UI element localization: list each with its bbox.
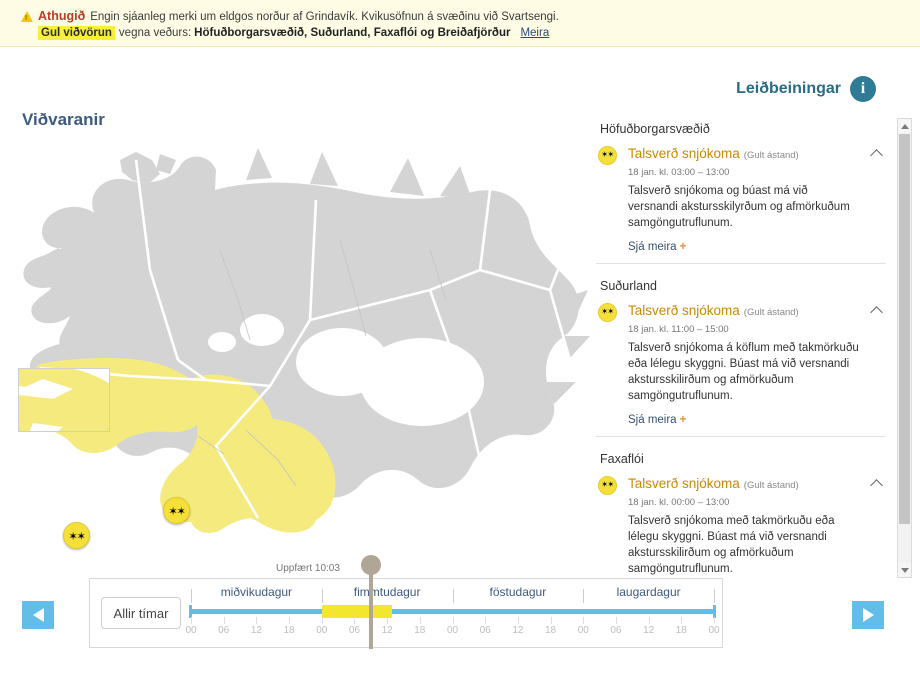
collapse-chevron-up-icon[interactable] (872, 148, 882, 158)
snow-warning-icon: ✶✶ (598, 303, 617, 322)
warning-state: (Gult ástand) (744, 480, 799, 491)
timeline-hour-label: 12 (251, 625, 262, 636)
timeline-day-separator (322, 589, 323, 603)
timeline-day-separator (191, 589, 192, 603)
region-block: Suðurland ✶✶ Talsverð snjókoma(Gult ásta… (596, 263, 886, 436)
timeline-rail[interactable] (191, 609, 714, 614)
timeline-hour-label: 06 (349, 625, 360, 636)
collapse-chevron-up-icon[interactable] (872, 478, 882, 488)
map-marker-faxafloi[interactable]: ✶✶ (163, 497, 190, 524)
region-name: Höfuðborgarsvæðið (600, 122, 886, 136)
instructions-label: Leiðbeiningar (736, 80, 841, 98)
alert-weather-line: Gul viðvörunvegna veðurs:Höfuðborgarsvæð… (38, 26, 549, 40)
region-block: Höfuðborgarsvæðið ✶✶ Talsverð snjókoma(G… (596, 122, 886, 263)
more-link[interactable]: Meira (520, 27, 549, 39)
timeline-hour-labels: 0006121800061218000612180006121800 (191, 625, 714, 639)
affected-regions-text: Höfuðborgarsvæðið, Suðurland, Faxaflói o… (194, 27, 510, 39)
timeline-hour-tick (289, 617, 290, 624)
warning-state: (Gult ástand) (744, 150, 799, 161)
warning-state: (Gult ástand) (744, 307, 799, 318)
snow-marker-glyph: ✶✶ (68, 531, 84, 541)
timeline-day-label: föstudagur (490, 585, 547, 599)
timeline-hour-tick (224, 617, 225, 624)
warning-description: Talsverð snjókoma og búast má við versna… (628, 183, 860, 231)
warning-time: 18 jan. kl. 11:00 – 15:00 (628, 324, 860, 335)
see-more-link[interactable]: Sjá meira+ (628, 414, 860, 426)
timeline-hour-tick (616, 617, 617, 624)
reason-text: vegna veðurs: (119, 27, 191, 39)
timeline-day-label: fimmtudagur (354, 585, 421, 599)
warning-time: 18 jan. kl. 03:00 – 13:00 (628, 167, 860, 178)
scrollbar-thumb[interactable] (899, 134, 910, 524)
info-icon[interactable]: i (850, 76, 876, 102)
timeline-hour-label: 12 (643, 625, 654, 636)
timeline-control[interactable]: Allir tímar miðvikudagurfimmtudagurföstu… (89, 578, 723, 648)
timeline-hour-tick (453, 617, 454, 624)
timeline-hour-tick (518, 617, 519, 624)
timeline-handle[interactable] (361, 555, 381, 575)
timeline-hour-label: 00 (185, 625, 196, 636)
scroll-up-arrow-icon[interactable] (898, 119, 911, 133)
timeline-hour-tick (583, 617, 584, 624)
region-block: Faxaflói ✶✶ Talsverð snjókoma(Gult ástan… (596, 436, 886, 578)
timeline-day-label: laugardagur (617, 585, 681, 599)
map-inset-capital-region[interactable] (18, 368, 110, 432)
triangle-right-icon (863, 608, 874, 622)
warning-description: Talsverð snjókoma með takmörkuðu eða lél… (628, 513, 860, 577)
map-inset-graphic (18, 368, 110, 432)
timeline-hour-label: 00 (316, 625, 327, 636)
page-title: Viðvaranir (22, 110, 105, 130)
timeline-day-labels: miðvikudagurfimmtudagurföstudagurlaugard… (191, 585, 714, 601)
instructions-link[interactable]: Leiðbeiningar i (736, 76, 876, 102)
warning-description: Talsverð snjókoma á köflum með takmörkuð… (628, 340, 860, 404)
timeline-hour-label: 00 (708, 625, 719, 636)
see-more-link[interactable]: Sjá meira+ (628, 241, 860, 253)
timeline-hour-tick (420, 617, 421, 624)
triangle-left-icon (33, 608, 44, 622)
alert-banner: AthugiðEngin sjáanleg merki um eldgos no… (0, 0, 920, 47)
timeline-hour-label: 06 (218, 625, 229, 636)
plus-icon: + (680, 241, 687, 253)
timeline-hour-label: 18 (676, 625, 687, 636)
notice-label: Athugið (38, 9, 85, 23)
prev-button[interactable] (22, 601, 54, 629)
collapse-chevron-up-icon[interactable] (872, 305, 882, 315)
timeline-day-separator (714, 589, 715, 603)
see-more-label: Sjá meira (628, 241, 677, 253)
warning-item[interactable]: ✶✶ Talsverð snjókoma(Gult ástand) 18 jan… (596, 475, 886, 578)
timeline-hour-tick (387, 617, 388, 624)
timeline-hour-tick (649, 617, 650, 624)
snow-warning-icon: ✶✶ (598, 476, 617, 495)
timeline-hour-label: 06 (480, 625, 491, 636)
iceland-warning-map[interactable]: ✶✶ ✶✶ ✶✶ (10, 130, 590, 555)
timeline-hour-label: 18 (284, 625, 295, 636)
see-more-label: Sjá meira (628, 414, 677, 426)
timeline-day-separator (453, 589, 454, 603)
timeline-hour-tick (354, 617, 355, 624)
timeline-hour-tick (551, 617, 552, 624)
timeline-hour-tick (256, 617, 257, 624)
timeline-hour-tick (714, 617, 715, 624)
warnings-panel[interactable]: Höfuðborgarsvæðið ✶✶ Talsverð snjókoma(G… (596, 118, 886, 578)
timeline-day-separator (583, 589, 584, 603)
timeline-hour-tick (191, 617, 192, 624)
timeline-handle-line (369, 567, 373, 649)
region-name: Faxaflói (600, 452, 886, 466)
map-marker-hofudborgarsvaedid[interactable]: ✶✶ (63, 522, 90, 549)
warning-time: 18 jan. kl. 00:00 – 13:00 (628, 497, 860, 508)
timeline-track[interactable]: miðvikudagurfimmtudagurföstudagurlaugard… (191, 579, 714, 647)
snow-warning-icon: ✶✶ (598, 146, 617, 165)
warning-item[interactable]: ✶✶ Talsverð snjókoma(Gult ástand) 18 jan… (596, 145, 886, 253)
map-graphic (10, 130, 590, 555)
yellow-warning-chip: Gul viðvörun (38, 26, 115, 40)
updated-label: Uppfært 10:03 (276, 563, 340, 574)
timeline-hour-label: 18 (545, 625, 556, 636)
timeline-hour-ticks (191, 617, 714, 625)
timeline-hour-label: 00 (578, 625, 589, 636)
timeline-hour-label: 00 (447, 625, 458, 636)
scroll-down-arrow-icon[interactable] (898, 563, 911, 577)
alert-notice-line: AthugiðEngin sjáanleg merki um eldgos no… (21, 9, 559, 24)
warning-title[interactable]: Talsverð snjókoma (628, 476, 740, 491)
timeline-hour-tick (485, 617, 486, 624)
warning-title[interactable]: Talsverð snjókoma (628, 146, 740, 161)
timeline-hour-tick (681, 617, 682, 624)
timeline-hour-label: 18 (414, 625, 425, 636)
timeline-hour-tick (322, 617, 323, 624)
warning-item[interactable]: ✶✶ Talsverð snjókoma(Gult ástand) 18 jan… (596, 302, 886, 426)
timeline-hour-label: 06 (610, 625, 621, 636)
region-name: Suðurland (600, 279, 886, 293)
panel-scrollbar[interactable] (897, 118, 912, 578)
warning-triangle-icon (21, 11, 33, 22)
timeline-day-label: miðvikudagur (221, 585, 292, 599)
timeline-hour-label: 12 (382, 625, 393, 636)
all-times-button[interactable]: Allir tímar (101, 597, 181, 629)
warning-title[interactable]: Talsverð snjókoma (628, 303, 740, 318)
next-button[interactable] (852, 601, 884, 629)
timeline-hour-label: 12 (512, 625, 523, 636)
snow-marker-glyph: ✶✶ (168, 506, 184, 516)
plus-icon: + (680, 414, 687, 426)
notice-text: Engin sjáanleg merki um eldgos norður af… (90, 11, 559, 23)
